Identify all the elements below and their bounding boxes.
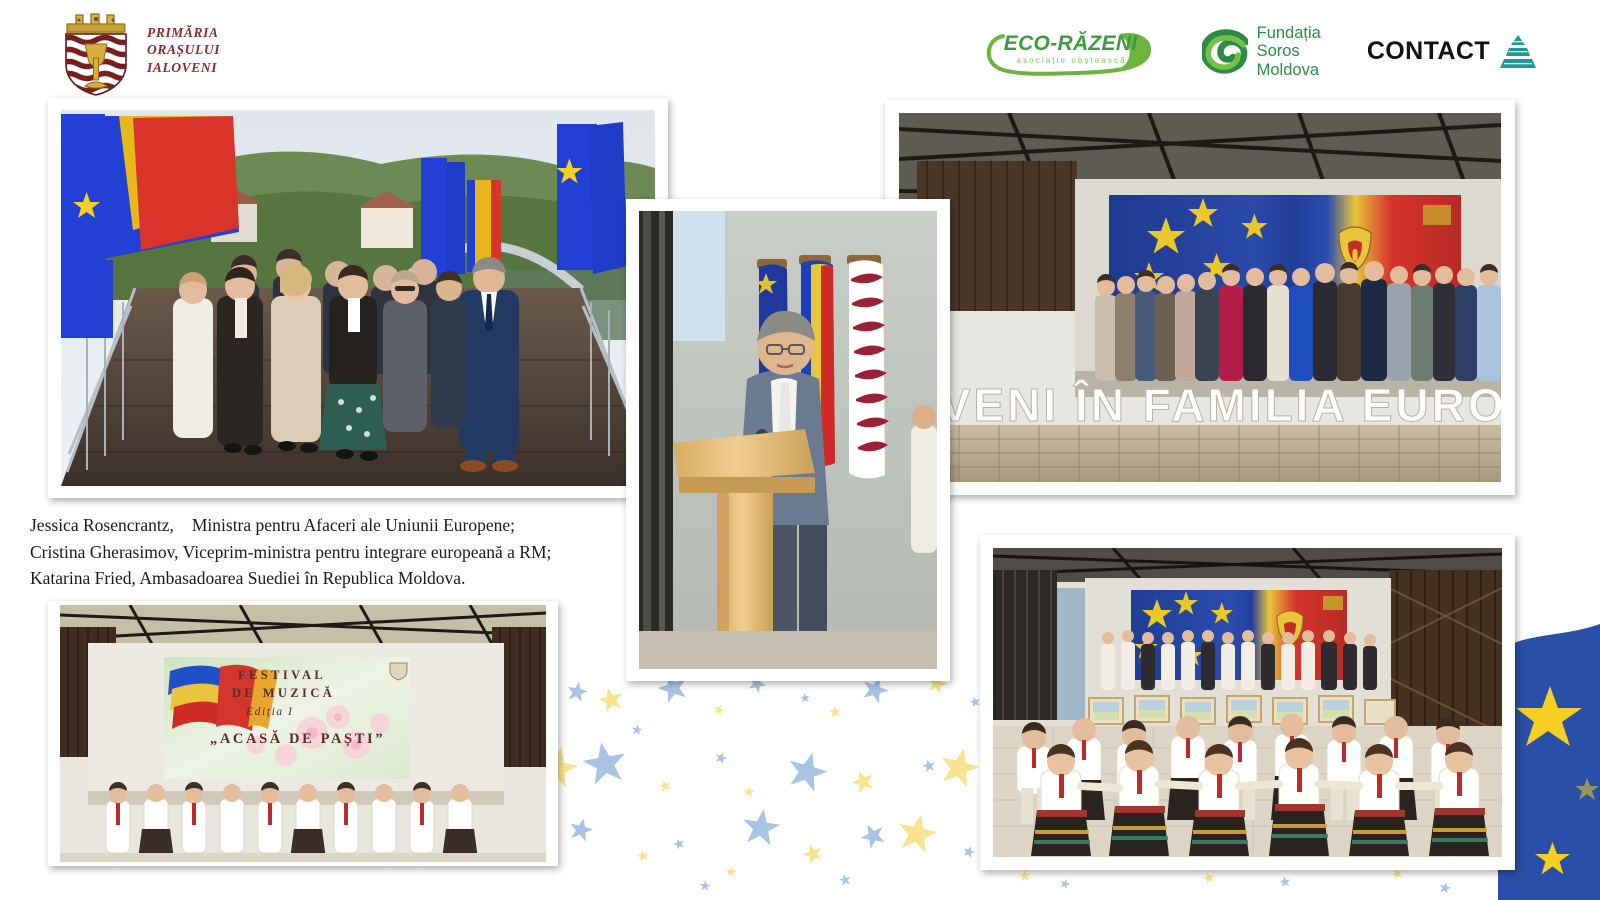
pyramid-icon — [1494, 33, 1542, 71]
festival-banner-line-4: „ACASĂ DE PAȘTI” — [210, 730, 385, 747]
festival-banner-line-2: DE MUZICĂ — [232, 686, 335, 700]
logo-contact-name: CONTACT — [1367, 37, 1490, 66]
photo-music-festival-image: FESTIVAL DE MUZICĂ Ediția I „ACASĂ DE PA… — [60, 605, 546, 862]
soros-line-2: Soros — [1257, 42, 1321, 60]
ialoveni-coat-of-arms-icon — [55, 4, 137, 96]
festival-banner-line-3: Ediția I — [245, 706, 294, 718]
caption-line-2: Cristina Gherasimov, Viceprim-ministra p… — [30, 539, 630, 566]
logo-eco-razeni-subtitle: asociație obștească — [999, 56, 1145, 65]
stage-letters: OVENI ÎN FAMILIA EUROPEANĂ — [901, 379, 1501, 431]
logo-eco-razeni-name: ECO-RĂZENI — [1001, 32, 1141, 56]
crest-line-2: ORAȘULUI — [147, 41, 220, 58]
photo-speaker-podium[interactable] — [626, 199, 950, 681]
soros-line-1: Fundația — [1257, 24, 1321, 42]
logo-contact: CONTACT — [1367, 33, 1542, 71]
caption-line-1-role: Ministra pentru Afaceri ale Uniunii Euro… — [192, 515, 515, 535]
municipality-branding: PRIMĂRIA ORAȘULUI IALOVENI — [55, 4, 220, 96]
photo-children-hora-image — [993, 548, 1502, 857]
caption-line-2-role: Viceprim-ministra pentru integrare europ… — [183, 542, 552, 562]
caption-line-3: Katarina Fried, Ambasadoarea Suediei în … — [30, 565, 630, 592]
photo-speaker-podium-image — [639, 211, 937, 669]
photo-stage-group[interactable]: OVENI ÎN FAMILIA EUROPEANĂ — [885, 100, 1515, 495]
caption-line-3-name: Katarina Fried, — [30, 568, 136, 588]
photo-music-festival[interactable]: FESTIVAL DE MUZICĂ Ediția I „ACASĂ DE PA… — [48, 601, 558, 866]
photo-bridge-delegation-image — [61, 110, 655, 486]
crest-line-1: PRIMĂRIA — [147, 24, 220, 41]
caption-line-2-name: Cristina Gherasimov, — [30, 542, 179, 562]
photo-children-hora[interactable] — [980, 535, 1515, 870]
soros-line-3: Moldova — [1257, 61, 1321, 79]
festival-banner-line-1: FESTIVAL — [238, 668, 326, 682]
soros-spiral-icon — [1202, 29, 1248, 75]
municipality-name: PRIMĂRIA ORAȘULUI IALOVENI — [147, 24, 220, 76]
photo-bridge-delegation[interactable] — [48, 98, 668, 498]
caption-line-3-role: Ambasadoarea Suediei în Republica Moldov… — [139, 568, 465, 588]
crest-line-3: IALOVENI — [147, 59, 220, 76]
caption-line-1: Jessica Rosencrantz,Ministra pentru Afac… — [30, 512, 630, 539]
caption-line-1-name: Jessica Rosencrantz, — [30, 515, 174, 535]
logo-eco-razeni: ECO-RĂZENI asociație obștească — [981, 26, 1156, 78]
photo-stage-group-image: OVENI ÎN FAMILIA EUROPEANĂ — [899, 113, 1501, 482]
partner-logos: ECO-RĂZENI asociație obștească Fundația … — [981, 24, 1542, 79]
logo-fundatia-soros-moldova: Fundația Soros Moldova — [1202, 24, 1321, 79]
logo-soros-text: Fundația Soros Moldova — [1257, 24, 1321, 79]
page-header: PRIMĂRIA ORAȘULUI IALOVENI ECO-RĂZENI as… — [0, 0, 1600, 100]
photo-caption: Jessica Rosencrantz,Ministra pentru Afac… — [30, 512, 630, 592]
